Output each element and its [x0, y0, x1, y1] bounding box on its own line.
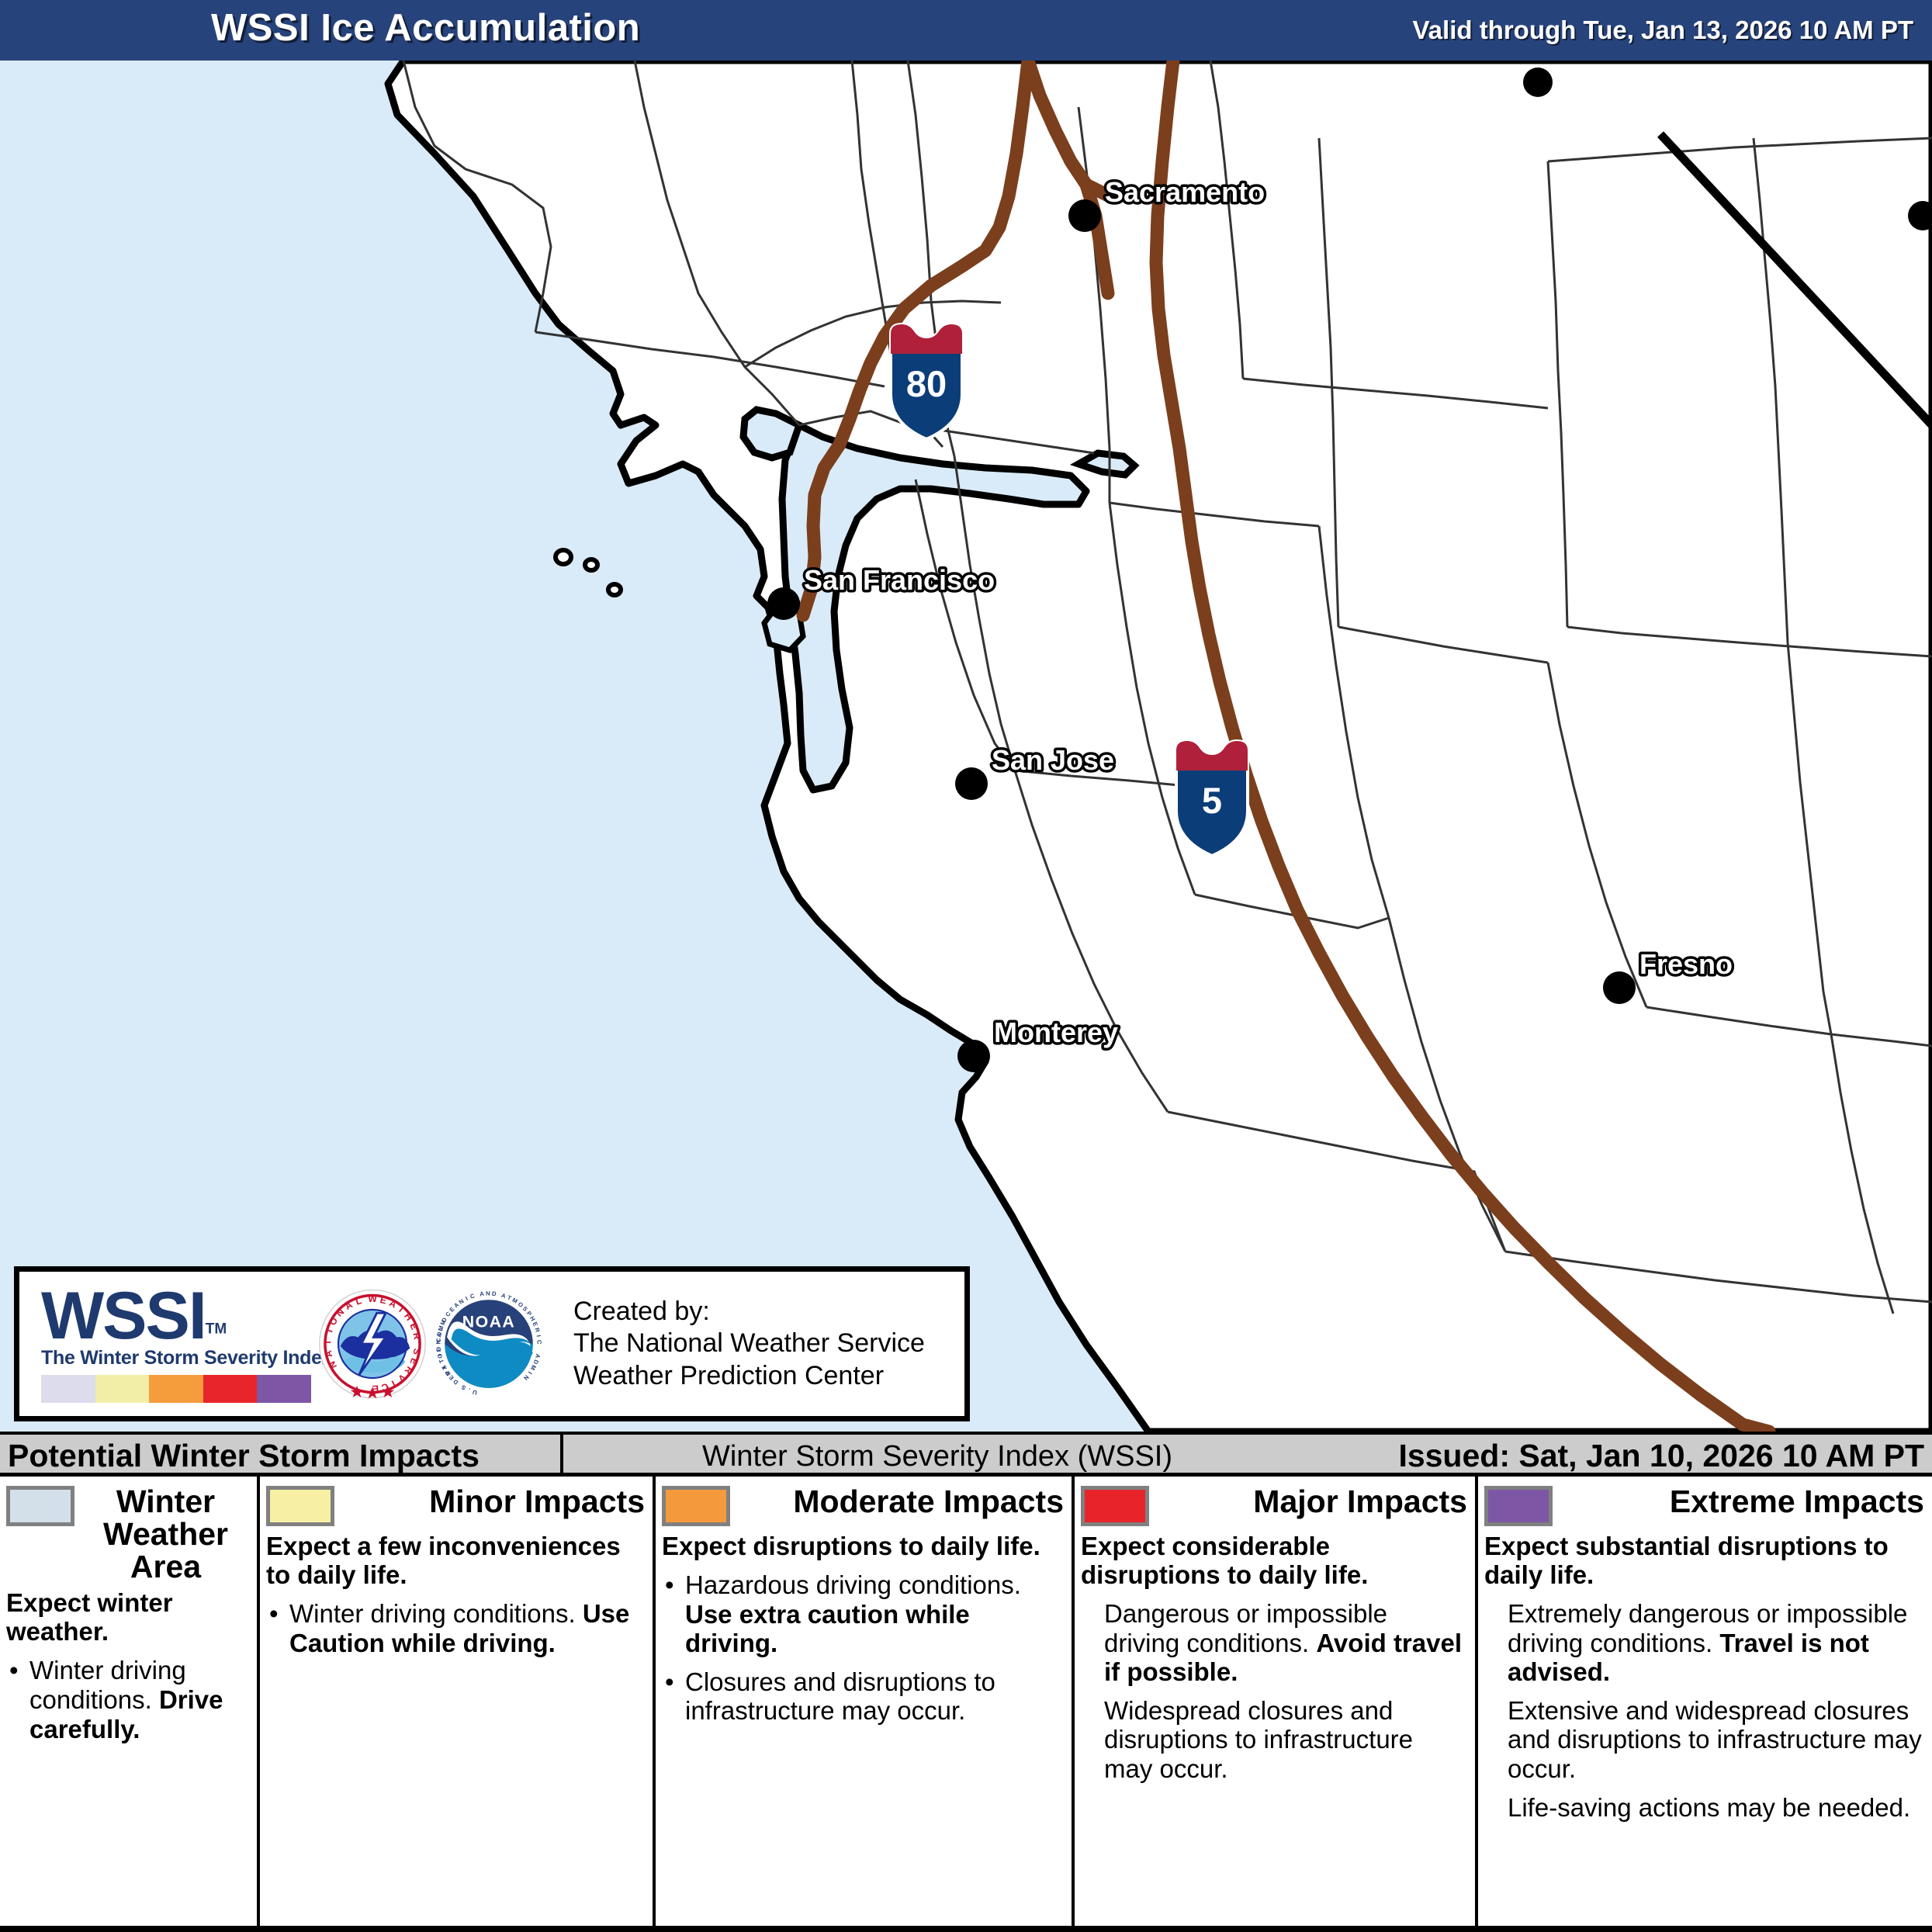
wssi-severity-gradient-bar: [41, 1375, 311, 1403]
potential-impacts-label: Potential Winter Storm Impacts: [8, 1438, 480, 1474]
trademark-symbol: TM: [206, 1321, 227, 1338]
legend-bullet-item: Hazardous driving conditions. Use extra …: [662, 1570, 1064, 1658]
legend-bullet-item: Winter driving conditions. Drive careful…: [6, 1656, 249, 1743]
legend-header: Minor Impacts: [266, 1486, 645, 1526]
created-by-block: Created by: The National Weather Service…: [573, 1296, 925, 1392]
legend-lead-text: Expect winter weather.: [6, 1589, 249, 1646]
legend-bullet-item: Dangerous or impossible driving conditio…: [1081, 1599, 1467, 1687]
svg-text:W: W: [368, 1293, 377, 1304]
legend-bullet-list: Hazardous driving conditions. Use extra …: [662, 1570, 1064, 1726]
wssi-gradient-swatch-0: [41, 1375, 95, 1403]
svg-text:5: 5: [1202, 780, 1222, 821]
svg-text:NOAA: NOAA: [462, 1313, 515, 1331]
city-label: San Jose: [992, 744, 1114, 776]
legend-column-major-impacts: Major ImpactsExpect considerable disrupt…: [1075, 1477, 1478, 1926]
impact-legend: Winter Weather AreaExpect winter weather…: [0, 1477, 1932, 1932]
interstate-shield-80: 80: [891, 324, 962, 439]
svg-text:F: F: [435, 1348, 443, 1352]
city-label: San Francisco: [804, 564, 995, 596]
page-title: WSSI Ice Accumulation: [211, 6, 640, 50]
legend-bullet-emphasis: Travel is not advised.: [1508, 1629, 1869, 1687]
legend-category-title: Winter Weather Area: [82, 1486, 249, 1583]
legend-color-swatch: [1081, 1486, 1149, 1526]
svg-text:C: C: [535, 1340, 542, 1345]
svg-text:N: N: [486, 1290, 490, 1297]
city-dot: [957, 1040, 990, 1072]
legend-color-swatch: [6, 1486, 74, 1526]
legend-bullet-list: Winter driving conditions. Drive careful…: [6, 1656, 249, 1743]
city-label: Fresno: [1639, 948, 1733, 980]
wssi-logo-panel: WSSITM The Winter Storm Severity Index N…: [14, 1266, 970, 1421]
map-canvas[interactable]: 80 5 SacramentoSan FranciscoSan JoseFres…: [0, 61, 1932, 1432]
legend-bullet-item: Extensive and widespread closures and di…: [1484, 1696, 1924, 1784]
created-by-line-2: Weather Prediction Center: [573, 1360, 925, 1392]
city-dot-extra-north: [1523, 68, 1553, 97]
wssi-gradient-swatch-3: [203, 1375, 258, 1403]
legend-bullet-emphasis: Use extra caution while driving.: [685, 1600, 970, 1658]
legend-header: Extreme Impacts: [1484, 1486, 1924, 1526]
legend-bullet-item: Life-saving actions may be needed.: [1484, 1793, 1924, 1823]
nws-seal-icon: N A T I O N A L W E A T H E R S E R V I: [317, 1289, 428, 1399]
legend-lead-text: Expect substantial disruptions to daily …: [1484, 1532, 1924, 1590]
wssi-wordmark-row: WSSITM: [41, 1285, 313, 1349]
legend-bullet-emphasis: Use Caution while driving.: [289, 1599, 629, 1657]
interstate-shield-5: 5: [1176, 741, 1248, 856]
noaa-seal-icon: NOAA N A T I O N A L O C E A N I C A N D: [434, 1289, 544, 1399]
legend-color-swatch: [266, 1486, 334, 1526]
legend-category-title: Extreme Impacts: [1560, 1486, 1924, 1518]
city-dot: [1068, 199, 1101, 232]
legend-bullet-item: Widespread closures and disruptions to i…: [1081, 1696, 1467, 1784]
legend-bullet-emphasis: Drive carefully.: [29, 1685, 223, 1743]
legend-header: Winter Weather Area: [6, 1486, 249, 1583]
legend-bullet-emphasis: Avoid travel if possible.: [1104, 1629, 1462, 1687]
page-header: WSSI Ice Accumulation Valid through Tue,…: [0, 0, 1932, 61]
legend-column-extreme-impacts: Extreme ImpactsExpect substantial disrup…: [1478, 1477, 1932, 1926]
created-by-line-1: The National Weather Service: [573, 1328, 925, 1359]
city-dot: [1603, 971, 1636, 1004]
legend-lead-text: Expect a few inconveniences to daily lif…: [266, 1532, 645, 1590]
wssi-fullname-label: Winter Storm Severity Index (WSSI): [702, 1440, 1172, 1473]
wssi-gradient-swatch-4: [257, 1375, 311, 1403]
legend-bullet-list: Dangerous or impossible driving conditio…: [1081, 1599, 1467, 1784]
city-label: Sacramento: [1105, 176, 1265, 208]
legend-bullet-item: Extremely dangerous or impossible drivin…: [1484, 1599, 1924, 1687]
agency-seals: N A T I O N A L W E A T H E R S E R V I: [317, 1289, 544, 1399]
created-by-line-0: Created by:: [573, 1296, 925, 1328]
legend-bullet-list: Winter driving conditions. Use Caution w…: [266, 1599, 645, 1657]
svg-text:C: C: [435, 1338, 441, 1343]
legend-lead-text: Expect disruptions to daily life.: [662, 1532, 1064, 1561]
legend-category-title: Minor Impacts: [342, 1486, 645, 1518]
svg-text:U: U: [472, 1388, 478, 1396]
legend-header: Moderate Impacts: [662, 1486, 1064, 1526]
wssi-brand-mark: WSSITM The Winter Storm Severity Index: [19, 1285, 313, 1403]
city-label: Monterey: [994, 1016, 1118, 1048]
legend-category-title: Major Impacts: [1157, 1486, 1467, 1518]
legend-header: Major Impacts: [1081, 1486, 1467, 1526]
svg-text:A: A: [480, 1290, 485, 1298]
impacts-summary-bar: Potential Winter Storm Impacts Winter St…: [0, 1432, 1932, 1477]
issued-label: Issued: Sat, Jan 10, 2026 10 AM PT: [1398, 1438, 1924, 1474]
legend-category-title: Moderate Impacts: [738, 1486, 1064, 1518]
legend-bullet-item: Closures and disruptions to infrastructu…: [662, 1667, 1064, 1726]
legend-lead-text: Expect considerable disruptions to daily…: [1081, 1532, 1467, 1590]
legend-column-moderate-impacts: Moderate ImpactsExpect disruptions to da…: [656, 1477, 1075, 1926]
city-dot: [767, 587, 800, 620]
city-dot: [955, 767, 988, 800]
legend-column-minor-impacts: Minor ImpactsExpect a few inconveniences…: [260, 1477, 656, 1926]
legend-bullet-item: Winter driving conditions. Use Caution w…: [266, 1599, 645, 1657]
wssi-gradient-swatch-1: [95, 1375, 150, 1403]
svg-text:T: T: [322, 1338, 333, 1345]
legend-color-swatch: [662, 1486, 730, 1526]
legend-bullet-list: Extremely dangerous or impossible drivin…: [1484, 1599, 1924, 1822]
legend-column-winter-weather-area: Winter Weather AreaExpect winter weather…: [0, 1477, 260, 1926]
gray-bar-divider: [560, 1435, 563, 1473]
valid-through-label: Valid through Tue, Jan 13, 2026 10 AM PT: [1412, 16, 1913, 45]
map-graphic: 80 5 SacramentoSan FranciscoSan JoseFres…: [0, 61, 1932, 1432]
wssi-gradient-swatch-2: [149, 1375, 203, 1403]
wssi-wordmark: WSSI: [41, 1285, 206, 1349]
svg-text:80: 80: [906, 363, 947, 404]
legend-color-swatch: [1484, 1486, 1553, 1526]
